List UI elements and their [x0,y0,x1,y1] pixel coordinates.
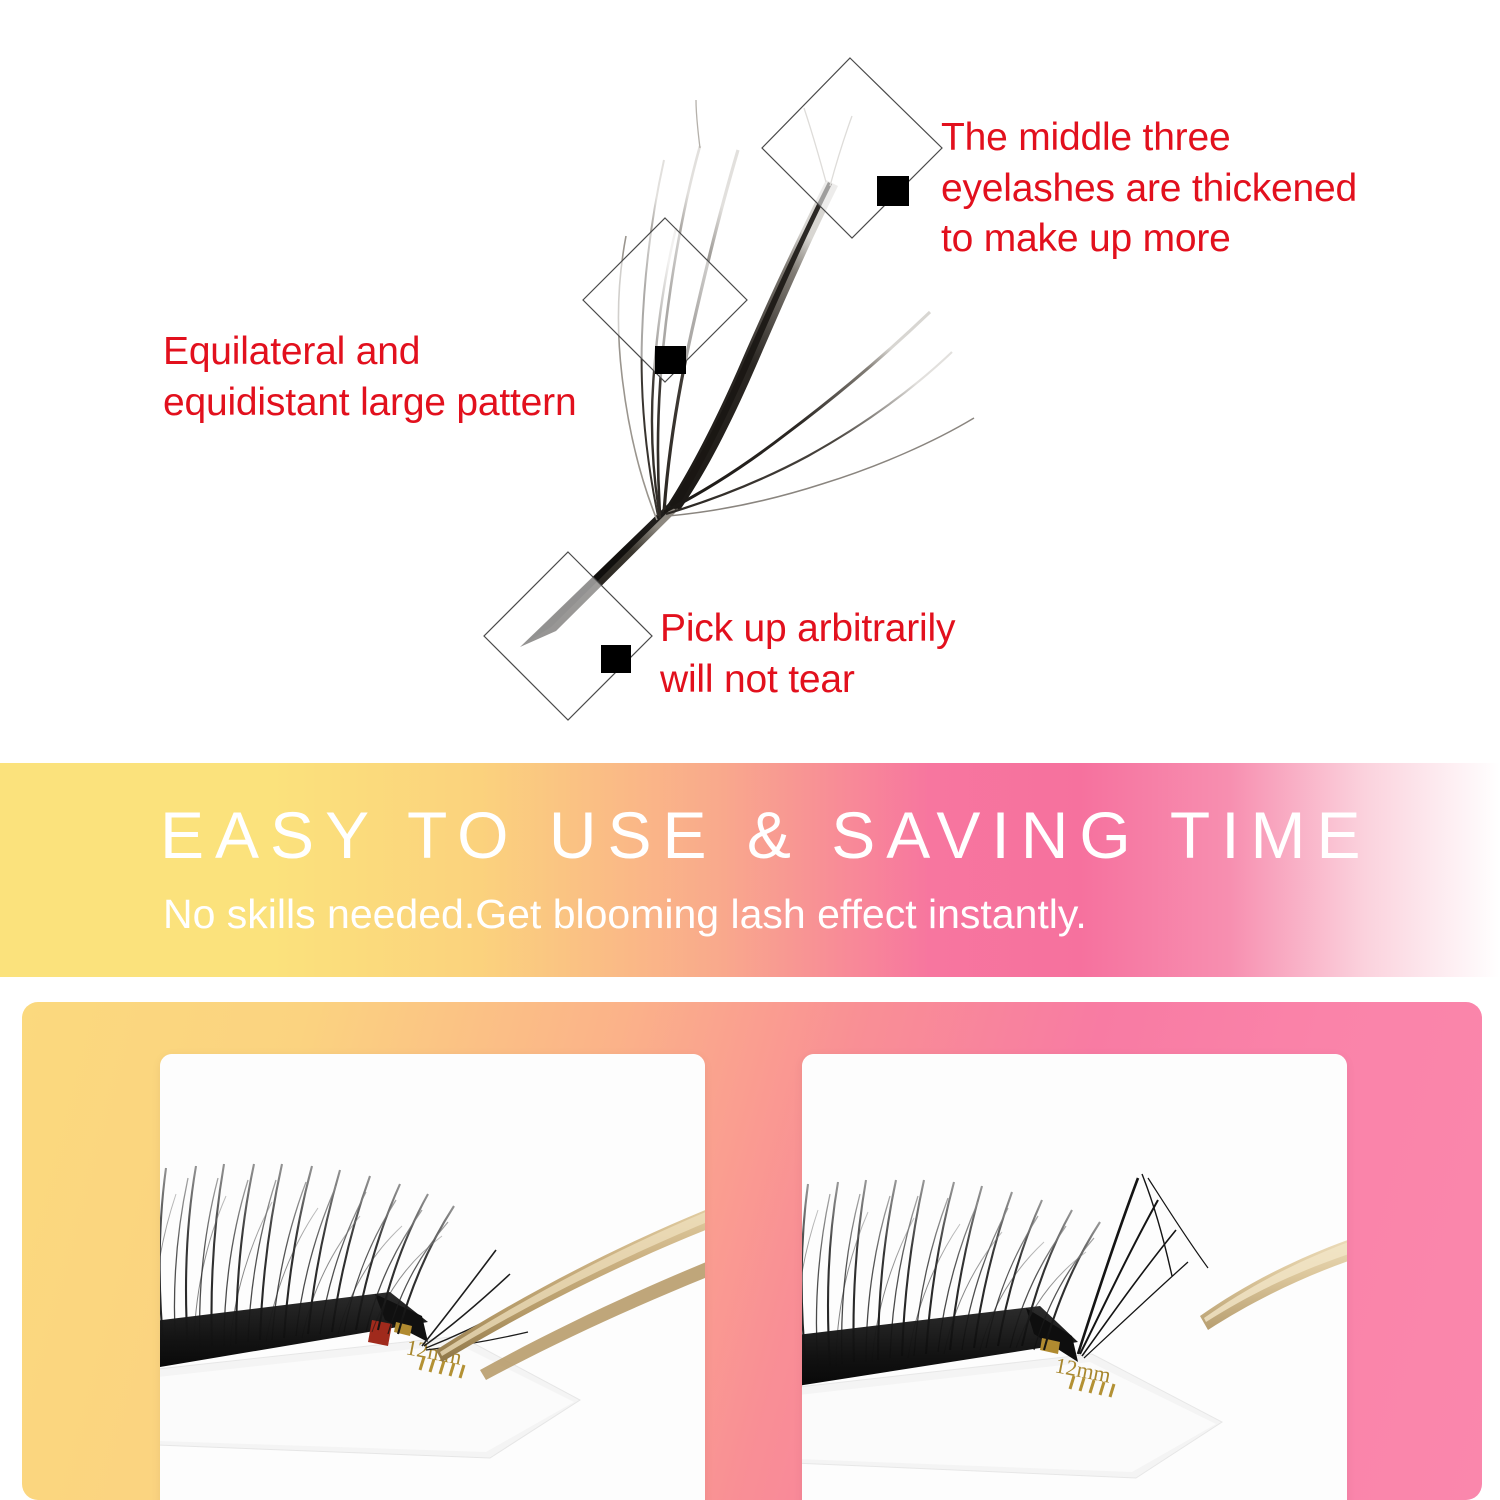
photo-card-lash-tray-tweezers[interactable]: 12mm [160,1054,705,1500]
callout-marker-bottom [601,645,631,673]
callout-label-pick-up: Pick up arbitrarily will not tear [660,604,955,705]
callout-label-middle-three: The middle three eyelashes are thickened… [941,113,1357,265]
promo-banner-title: EASY TO USE & SAVING TIME [160,797,1372,873]
promo-banner-subtitle: No skills needed.Get blooming lash effec… [163,891,1087,938]
photo-lash-tray-tweezers: 12mm [160,1054,705,1500]
callout-diamond-top [762,58,942,238]
lash-diagram-section: The middle three eyelashes are thickened… [0,0,1500,763]
callout-diamond-left [583,218,747,382]
callout-label-equilateral: Equilateral and equidistant large patter… [163,327,576,428]
callout-diamond-bottom [484,552,652,720]
promo-banner: EASY TO USE & SAVING TIME No skills need… [0,763,1500,977]
photo-gallery-panel: 12mm [22,1002,1482,1500]
photo-card-lash-fan-pickup[interactable]: 12mm [802,1054,1347,1500]
callout-marker-top [877,176,909,206]
callout-marker-left [655,346,686,374]
lash-fibers-right [664,312,974,516]
photo-lash-fan-pickup: 12mm [802,1054,1347,1500]
